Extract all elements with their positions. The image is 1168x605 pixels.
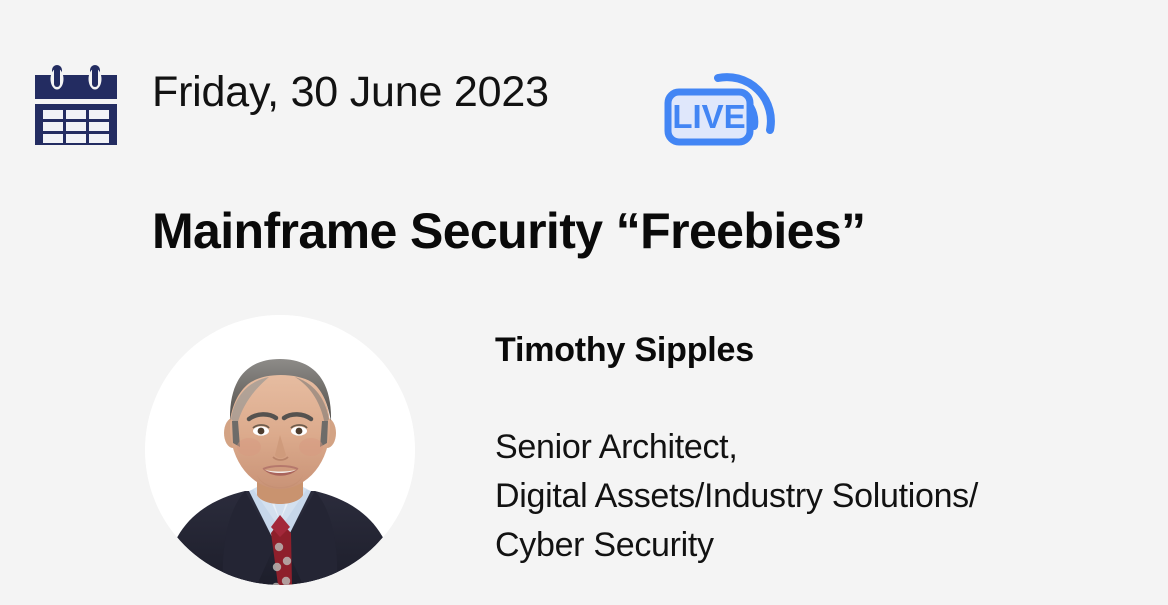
live-label: LIVE <box>672 98 745 135</box>
speaker-role-line-2: Digital Assets/Industry Solutions/ <box>495 472 1135 521</box>
speaker-role-line-1: Senior Architect, <box>495 423 1135 472</box>
event-announcement-slide: Friday, 30 June 2023 LIVE Mainframe Secu… <box>0 0 1168 605</box>
event-date: Friday, 30 June 2023 <box>152 68 549 117</box>
speaker-info: Timothy Sipples Senior Architect, Digita… <box>495 330 1135 571</box>
speaker-role-line-3: Cyber Security <box>495 521 1135 570</box>
speaker-portrait <box>145 315 415 585</box>
calendar-icon <box>33 63 119 145</box>
speaker-role: Senior Architect, Digital Assets/Industr… <box>495 423 1135 571</box>
talk-title: Mainframe Security “Freebies” <box>152 203 865 259</box>
live-badge: LIVE <box>664 44 786 152</box>
event-header: Friday, 30 June 2023 LIVE <box>0 44 1168 154</box>
speaker-name: Timothy Sipples <box>495 330 1135 371</box>
